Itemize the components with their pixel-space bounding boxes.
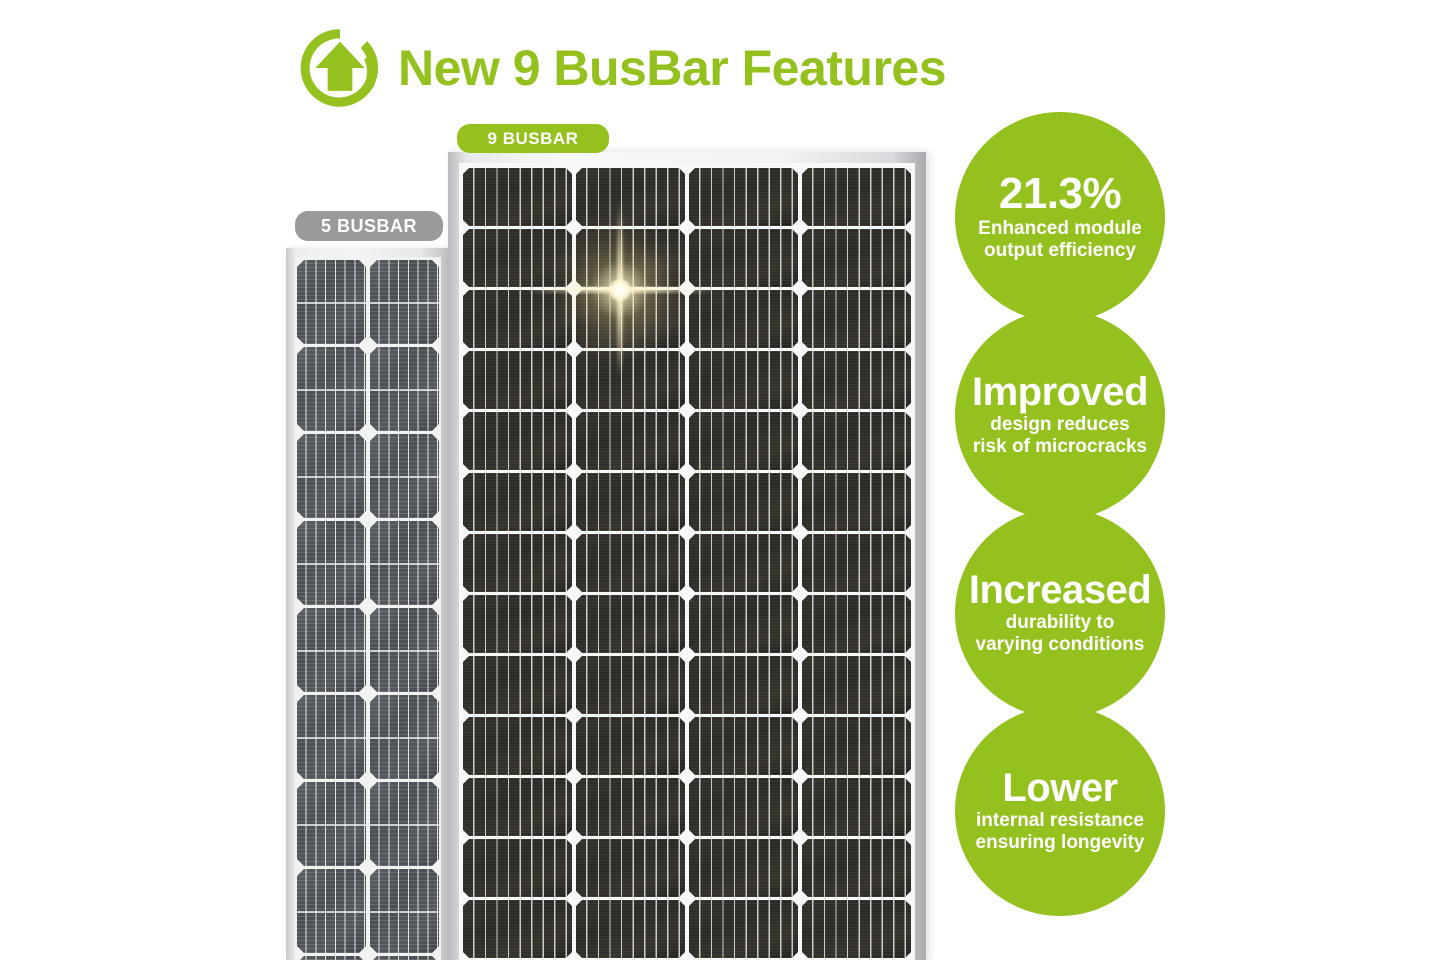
solar-cell-9bb — [463, 839, 572, 897]
solar-cell-5bb — [370, 347, 439, 431]
solar-cell-9bb — [463, 351, 572, 409]
solar-cell-5bb — [297, 260, 366, 344]
solar-cell-9bb — [802, 290, 911, 348]
solar-cell-9bb — [802, 229, 911, 287]
solar-cell-5bb — [370, 782, 439, 866]
feature-subtext: internal resistance ensuring longevity — [970, 810, 1151, 854]
solar-cell-9bb — [802, 595, 911, 653]
feature-subtext-line1: Enhanced module — [978, 218, 1142, 240]
feature-circle-list: 21.3% Enhanced module output efficiency … — [955, 112, 1175, 906]
solar-cell-9bb — [689, 778, 798, 836]
feature-subtext-line2: ensuring longevity — [976, 832, 1145, 854]
solar-cell-9bb — [576, 778, 685, 836]
feature-subtext: design reduces risk of microcracks — [967, 414, 1153, 458]
solar-cell-9bb — [576, 900, 685, 958]
solar-cell-9bb — [689, 168, 798, 226]
solar-cell-9bb — [802, 351, 911, 409]
solar-cell-5bb — [297, 347, 366, 431]
solar-cell-5bb — [370, 434, 439, 518]
solar-cell-9bb — [463, 473, 572, 531]
solar-cell-9bb — [576, 839, 685, 897]
solar-cell-9bb — [463, 534, 572, 592]
solar-cell-9bb — [576, 534, 685, 592]
solar-cell-9bb — [802, 168, 911, 226]
solar-cell-9bb — [689, 473, 798, 531]
up-arrow-in-circle-icon — [296, 24, 384, 112]
solar-cell-9bb — [689, 412, 798, 470]
feature-subtext: Enhanced module output efficiency — [972, 218, 1148, 262]
solar-cell-9bb — [463, 168, 572, 226]
feature-subtext: durability to varying conditions — [970, 612, 1151, 656]
solar-cell-9bb — [689, 839, 798, 897]
feature-subtext-line1: durability to — [976, 612, 1145, 634]
solar-cell-5bb — [297, 434, 366, 518]
solar-cell-9bb — [463, 412, 572, 470]
solar-cell-5bb — [370, 608, 439, 692]
feature-headline: Lower — [1002, 768, 1117, 808]
solar-cell-9bb — [463, 900, 572, 958]
solar-cell-9bb — [463, 656, 572, 714]
panel-9-glass — [459, 163, 915, 960]
solar-cell-5bb — [297, 869, 366, 953]
feature-headline: 21.3% — [999, 172, 1121, 216]
solar-cell-9bb — [576, 412, 685, 470]
solar-cell-9bb — [802, 656, 911, 714]
solar-cell-9bb — [689, 900, 798, 958]
panel-5-cell-grid — [297, 260, 439, 960]
solar-cell-5bb — [370, 869, 439, 953]
feature-subtext-line2: output efficiency — [978, 240, 1142, 262]
feature-subtext-line1: internal resistance — [976, 810, 1145, 832]
feature-subtext-line2: varying conditions — [976, 634, 1145, 656]
solar-cell-9bb — [576, 168, 685, 226]
solar-cell-9bb — [802, 534, 911, 592]
infographic-canvas: New 9 BusBar Features 5 BUSBAR 9 BUSBAR … — [0, 0, 1440, 960]
solar-cell-9bb — [689, 595, 798, 653]
header: New 9 BusBar Features — [296, 24, 946, 112]
solar-cell-5bb — [297, 521, 366, 605]
feature-headline: Improved — [972, 372, 1148, 412]
solar-cell-9bb — [463, 290, 572, 348]
solar-cell-9bb — [689, 290, 798, 348]
solar-cell-5bb — [297, 608, 366, 692]
solar-cell-9bb — [802, 900, 911, 958]
badge-9-busbar-label: 9 BUSBAR — [488, 129, 579, 149]
solar-cell-9bb — [576, 656, 685, 714]
page-title: New 9 BusBar Features — [398, 43, 946, 93]
badge-9-busbar: 9 BUSBAR — [457, 124, 609, 153]
solar-cell-9bb — [576, 717, 685, 775]
feature-circle-increased: Increased durability to varying conditio… — [955, 508, 1165, 718]
solar-cell-5bb — [297, 782, 366, 866]
feature-subtext-line2: risk of microcracks — [973, 436, 1147, 458]
solar-cell-5bb — [370, 521, 439, 605]
solar-cell-9bb — [463, 778, 572, 836]
solar-cell-9bb — [463, 229, 572, 287]
solar-cell-9bb — [576, 595, 685, 653]
solar-cell-9bb — [689, 717, 798, 775]
feature-subtext-line1: design reduces — [973, 414, 1147, 436]
solar-cell-5bb — [370, 695, 439, 779]
solar-cell-9bb — [689, 656, 798, 714]
solar-cell-9bb — [576, 229, 685, 287]
solar-cell-9bb — [802, 778, 911, 836]
solar-cell-9bb — [463, 595, 572, 653]
solar-panel-9-busbar — [448, 152, 926, 960]
feature-circle-improved: Improved design reduces risk of microcra… — [955, 310, 1165, 520]
feature-circle-efficiency: 21.3% Enhanced module output efficiency — [955, 112, 1165, 322]
solar-cell-9bb — [802, 839, 911, 897]
solar-cell-5bb — [370, 956, 439, 960]
feature-headline: Increased — [969, 570, 1151, 610]
solar-cell-9bb — [802, 717, 911, 775]
panel-9-cell-grid — [463, 168, 911, 960]
solar-cell-9bb — [802, 473, 911, 531]
solar-cell-9bb — [689, 229, 798, 287]
solar-cell-5bb — [297, 956, 366, 960]
feature-circle-lower: Lower internal resistance ensuring longe… — [955, 706, 1165, 916]
solar-cell-9bb — [802, 412, 911, 470]
panel-5-glass — [295, 257, 441, 960]
solar-cell-9bb — [463, 717, 572, 775]
solar-panel-5-busbar — [286, 248, 449, 960]
badge-5-busbar-label: 5 BUSBAR — [321, 216, 417, 237]
solar-cell-9bb — [576, 473, 685, 531]
solar-cell-5bb — [370, 260, 439, 344]
badge-5-busbar: 5 BUSBAR — [295, 211, 443, 241]
solar-cell-9bb — [689, 351, 798, 409]
solar-cell-9bb — [689, 534, 798, 592]
solar-cell-9bb — [576, 351, 685, 409]
solar-cell-5bb — [297, 695, 366, 779]
solar-cell-9bb — [576, 290, 685, 348]
